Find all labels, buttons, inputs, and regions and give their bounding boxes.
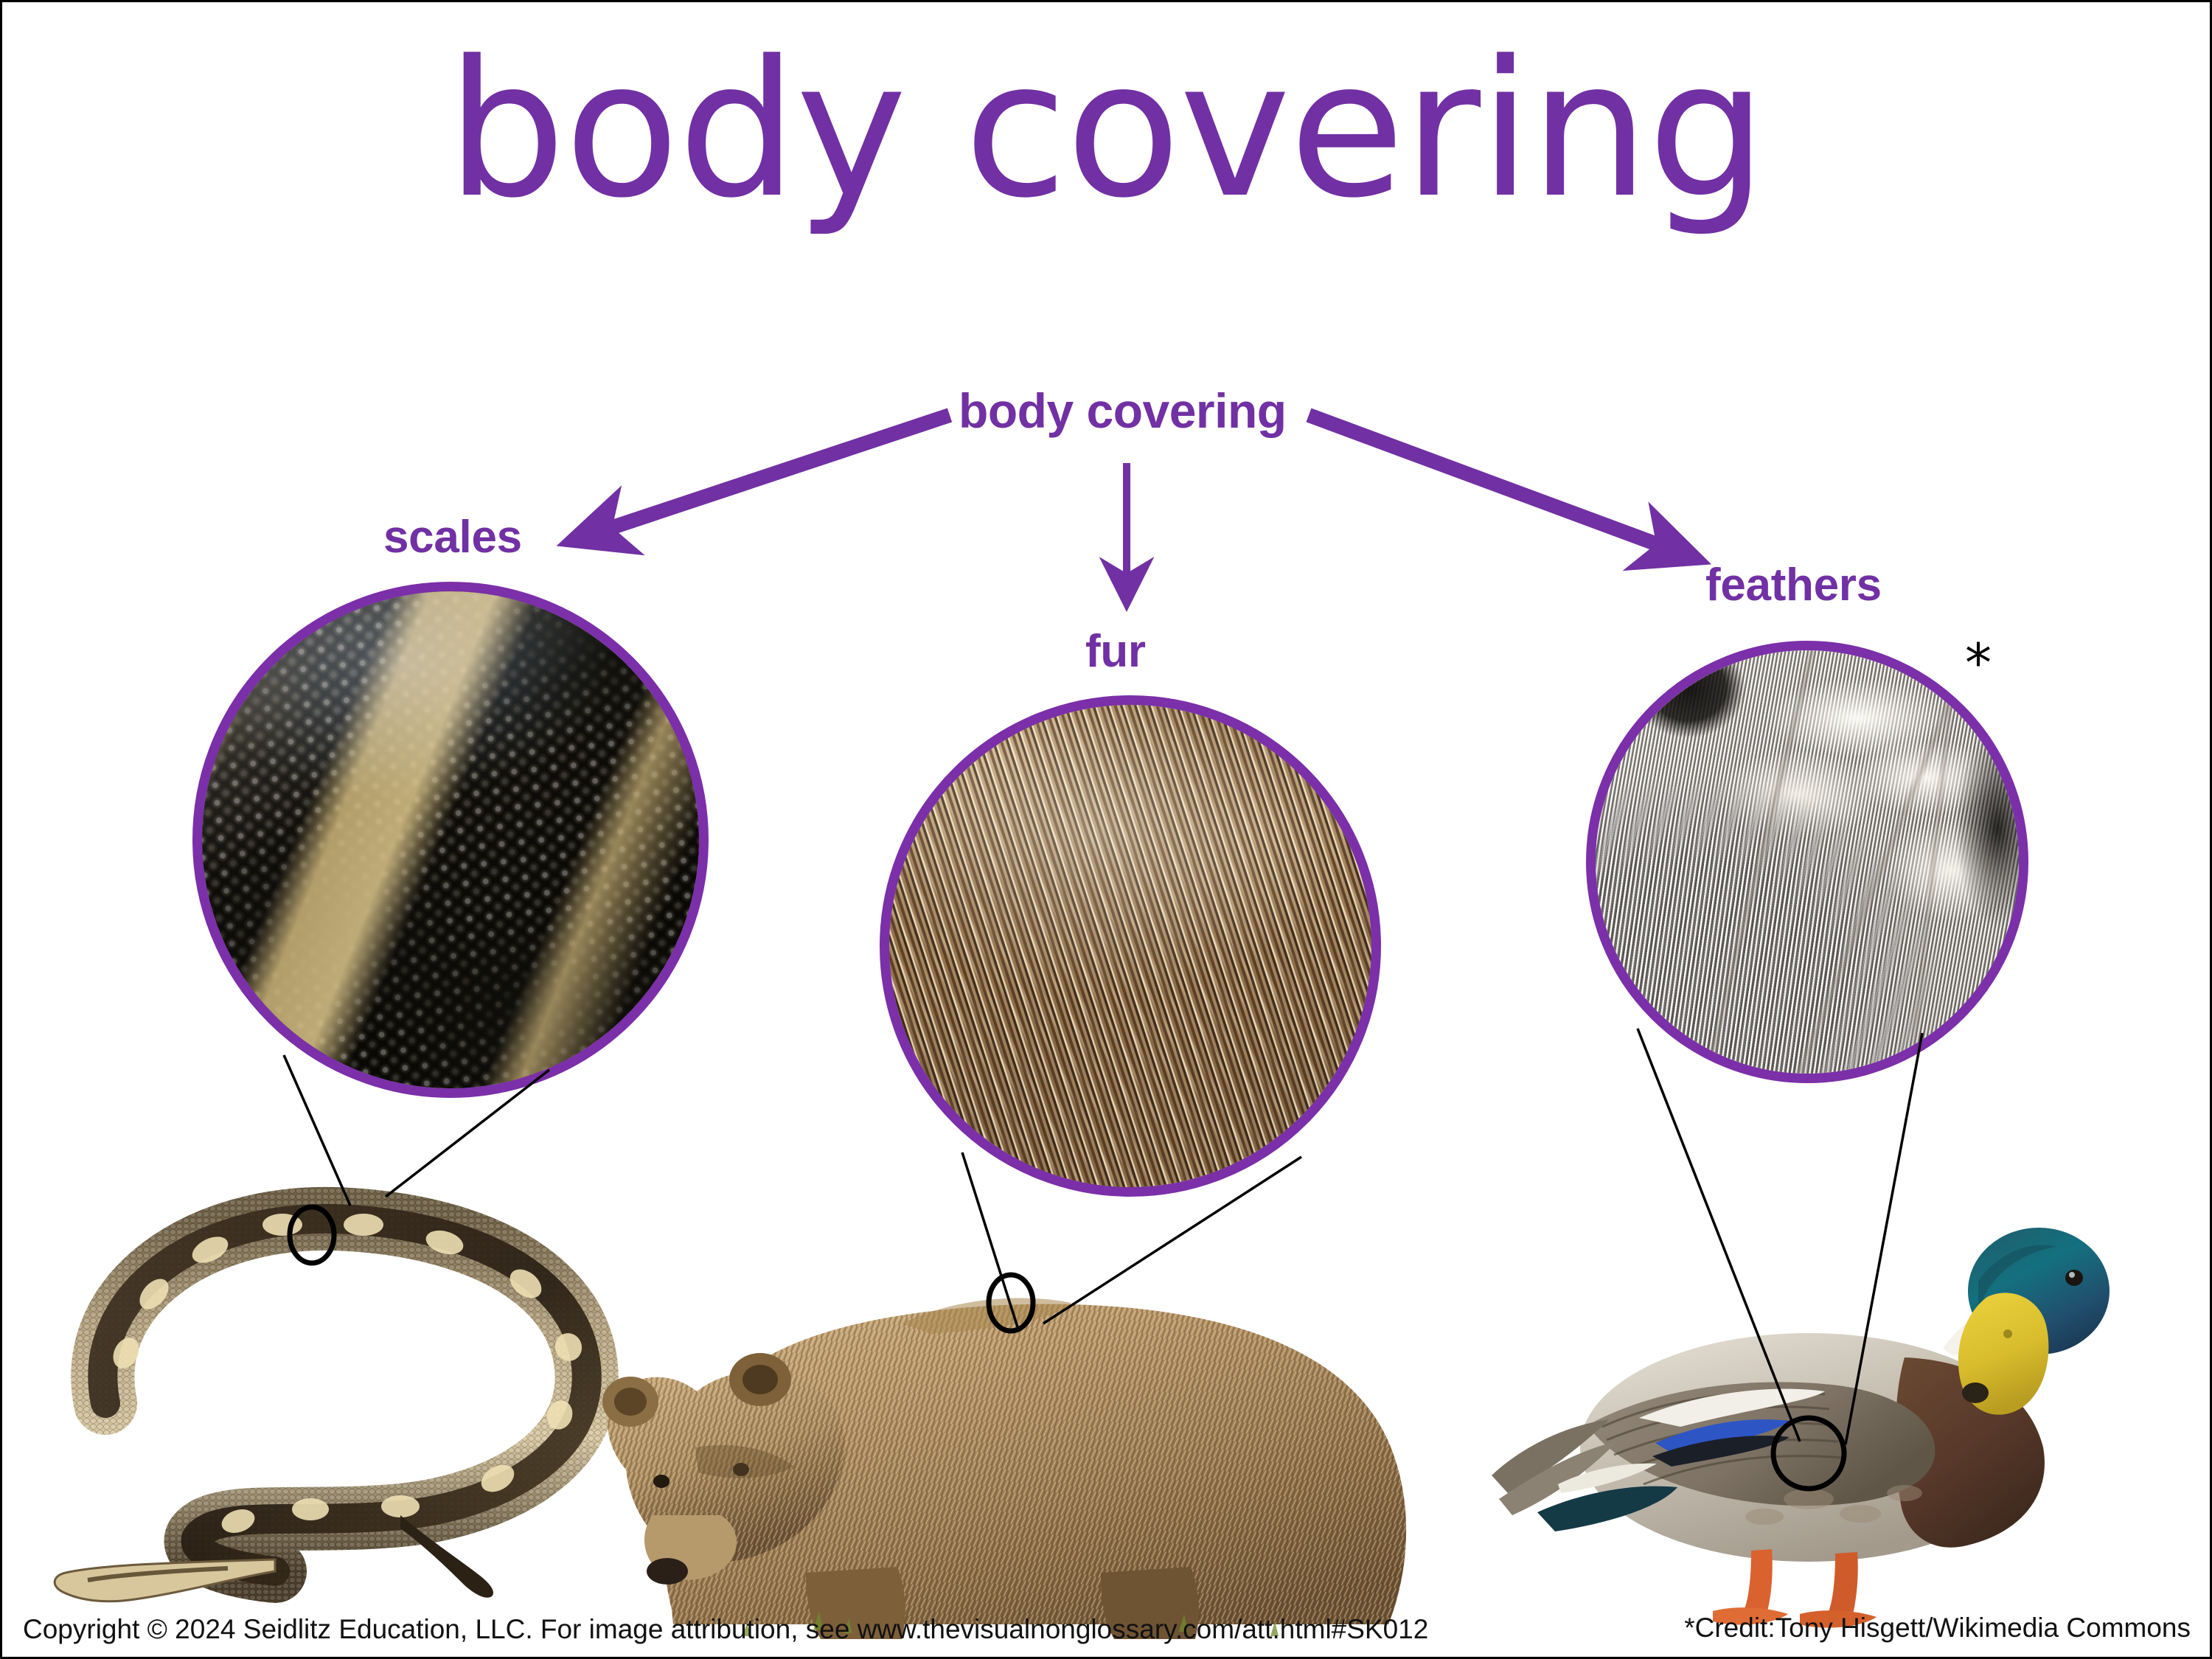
animal-illustration-duck xyxy=(1492,1204,2155,1632)
magnifier-circle-feathers xyxy=(1586,641,2028,1083)
duck-svg xyxy=(1492,1204,2155,1632)
fur-texture-image xyxy=(889,705,1371,1187)
poster-page: body covering body covering scales fur f… xyxy=(0,0,2212,1659)
arrow-root-to-scales xyxy=(577,415,950,539)
arrow-root-to-feathers xyxy=(1309,415,1691,557)
category-label-fur: fur xyxy=(1085,625,1146,678)
feathers-texture-image xyxy=(1596,650,2019,1074)
category-label-feathers: feathers xyxy=(1705,559,1882,611)
animal-illustration-bear xyxy=(585,1226,1462,1639)
feathers-shaft-lines xyxy=(1596,650,2019,1074)
page-title: body covering xyxy=(2,29,2210,232)
image-credit: *Credit:Tony Hisgett/Wikimedia Commons xyxy=(1684,1613,2191,1644)
scales-specular-highlight xyxy=(202,591,699,1088)
root-node-label: body covering xyxy=(959,383,1287,439)
fur-specular-highlight xyxy=(889,705,1371,1187)
footnote-asterisk-marker: * xyxy=(1965,636,1992,689)
bear-svg xyxy=(585,1226,1462,1639)
magnifier-circle-fur xyxy=(880,695,1381,1197)
category-label-scales: scales xyxy=(383,511,522,563)
copyright-notice: Copyright © 2024 Seidlitz Education, LLC… xyxy=(23,1614,1428,1645)
scales-texture-image xyxy=(202,591,699,1088)
magnifier-circle-scales xyxy=(192,582,709,1098)
